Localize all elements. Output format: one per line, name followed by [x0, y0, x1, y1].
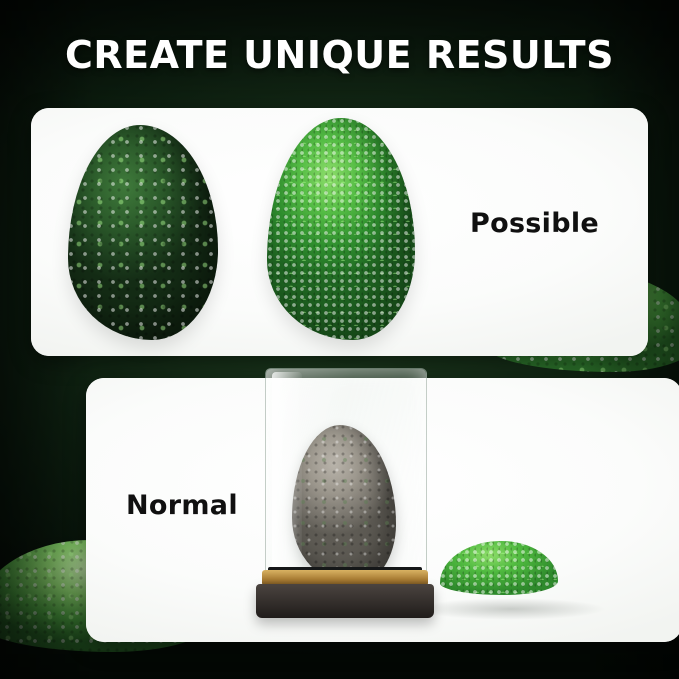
case-base: [256, 584, 434, 618]
page-title: CREATE UNIQUE RESULTS: [0, 33, 679, 77]
label-possible: Possible: [470, 208, 599, 239]
case-glass-reflection: [272, 372, 302, 590]
product-comparison-image: CREATE UNIQUE RESULTS Possible Normal: [0, 0, 679, 679]
label-normal: Normal: [126, 490, 238, 521]
case-shadow: [416, 598, 606, 620]
